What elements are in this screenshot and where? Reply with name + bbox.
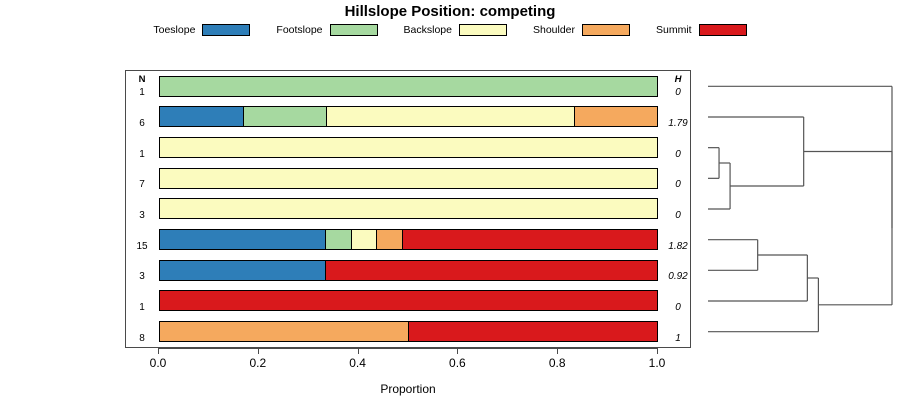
bar-row: NOGAL61.79 xyxy=(126,102,690,133)
bar-segment-backslope xyxy=(160,199,657,218)
dendrogram-panel xyxy=(700,70,900,348)
x-tick xyxy=(358,348,359,354)
legend-item-backslope: Backslope xyxy=(404,24,507,36)
page-title: Hillslope Position: competing xyxy=(0,3,900,20)
x-tick-label: 0.0 xyxy=(133,356,183,370)
legend-swatch-backslope xyxy=(459,24,507,36)
row-h-value: 0 xyxy=(664,179,692,190)
bar-segment-backslope xyxy=(160,138,657,157)
stacked-bar xyxy=(159,260,658,281)
x-tick-label: 0.8 xyxy=(532,356,582,370)
row-h-value: 1.79 xyxy=(664,118,692,129)
stacked-bar xyxy=(159,137,658,158)
stacked-bar xyxy=(159,106,658,127)
x-tick xyxy=(557,348,558,354)
row-n-value: 1 xyxy=(129,302,155,313)
row-n-value: 1 xyxy=(129,149,155,160)
row-n-value: 15 xyxy=(129,241,155,252)
row-h-value: 0 xyxy=(664,302,692,313)
x-tick-label: 0.2 xyxy=(233,356,283,370)
legend-swatch-footslope xyxy=(330,24,378,36)
row-n-value: 3 xyxy=(129,210,155,221)
bar-row: MONTECITO151.82 xyxy=(126,224,690,255)
stacked-bar xyxy=(159,198,658,219)
legend: Toeslope Footslope Backslope Shoulder Su… xyxy=(0,24,900,36)
row-h-value: 0 xyxy=(664,149,692,160)
dendrogram-svg xyxy=(700,70,900,348)
legend-swatch-summit xyxy=(699,24,747,36)
x-tick xyxy=(158,348,159,354)
bar-segment-summit xyxy=(408,322,657,341)
stacked-bar xyxy=(159,76,658,97)
bar-row: ORTIZ10 xyxy=(126,132,690,163)
bar-row: HOSTA30.92 xyxy=(126,255,690,286)
stacked-bar xyxy=(159,229,658,250)
stacked-bar xyxy=(159,168,658,189)
row-h-value: 0 xyxy=(664,210,692,221)
bar-segment-shoulder xyxy=(574,107,657,126)
x-axis: 0.00.20.40.60.81.0 xyxy=(125,348,691,362)
x-tick-label: 1.0 xyxy=(632,356,682,370)
x-tick xyxy=(657,348,658,354)
row-n-value: 8 xyxy=(129,333,155,344)
row-n-value: 7 xyxy=(129,179,155,190)
row-h-value: 0 xyxy=(664,87,692,98)
bar-segment-footslope xyxy=(325,230,351,249)
bar-segment-footslope xyxy=(160,77,657,96)
bar-row: PRATER10 xyxy=(126,286,690,317)
bar-row: CUEVA70 xyxy=(126,163,690,194)
row-h-value: 0.92 xyxy=(664,271,692,282)
x-tick-label: 0.4 xyxy=(333,356,383,370)
plot-canvas: Hillslope Position: competing Toeslope F… xyxy=(0,0,900,420)
bar-segment-shoulder xyxy=(376,230,402,249)
x-tick xyxy=(457,348,458,354)
legend-item-summit: Summit xyxy=(656,24,747,36)
legend-swatch-shoulder xyxy=(582,24,630,36)
legend-swatch-toeslope xyxy=(202,24,250,36)
legend-item-shoulder: Shoulder xyxy=(533,24,630,36)
legend-item-toeslope: Toeslope xyxy=(153,24,250,36)
bar-row: FIKEL10 xyxy=(126,71,690,102)
bar-row: CHINMOE30 xyxy=(126,194,690,225)
bar-segment-backslope xyxy=(326,107,574,126)
bar-segment-toeslope xyxy=(160,261,325,280)
stacked-bar xyxy=(159,290,658,311)
x-tick xyxy=(258,348,259,354)
bar-segment-summit xyxy=(402,230,657,249)
stacked-bar-panel: N H FIKEL10NOGAL61.79ORTIZ10CUEVA70CHINM… xyxy=(125,70,691,348)
bar-segment-summit xyxy=(160,291,657,310)
row-n-value: 1 xyxy=(129,87,155,98)
row-n-value: 3 xyxy=(129,271,155,282)
legend-label-backslope: Backslope xyxy=(404,24,452,36)
x-axis-line xyxy=(158,348,657,349)
bar-row: WILMAC81 xyxy=(126,316,690,347)
bar-segment-toeslope xyxy=(160,107,243,126)
x-axis-title: Proportion xyxy=(125,382,691,396)
bar-segment-backslope xyxy=(351,230,377,249)
legend-label-footslope: Footslope xyxy=(276,24,322,36)
bar-segment-backslope xyxy=(160,169,657,188)
legend-label-toeslope: Toeslope xyxy=(153,24,195,36)
bar-rows-container: FIKEL10NOGAL61.79ORTIZ10CUEVA70CHINMOE30… xyxy=(126,71,690,347)
row-h-value: 1.82 xyxy=(664,241,692,252)
legend-item-footslope: Footslope xyxy=(276,24,377,36)
bar-segment-toeslope xyxy=(160,230,325,249)
bar-segment-summit xyxy=(325,261,657,280)
row-n-value: 6 xyxy=(129,118,155,129)
bar-segment-footslope xyxy=(243,107,327,126)
row-h-value: 1 xyxy=(664,333,692,344)
x-tick-label: 0.6 xyxy=(432,356,482,370)
legend-label-summit: Summit xyxy=(656,24,692,36)
legend-label-shoulder: Shoulder xyxy=(533,24,575,36)
stacked-bar xyxy=(159,321,658,342)
bar-segment-shoulder xyxy=(160,322,408,341)
